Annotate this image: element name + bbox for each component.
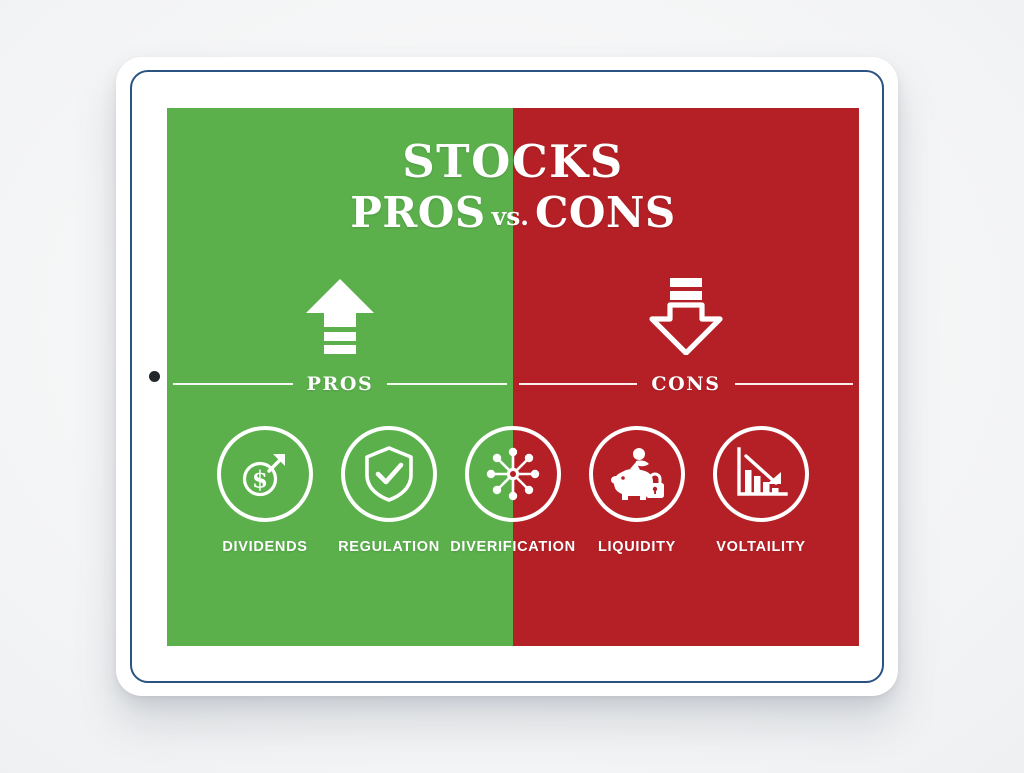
- cons-rule-right: [735, 383, 853, 385]
- liquidity-icon-circle: [589, 426, 685, 522]
- section-labels-row: PROS CONS: [167, 370, 859, 398]
- cons-arrow-cell: [513, 276, 859, 356]
- pros-section-header: PROS: [167, 370, 513, 398]
- camera-dot-icon: [149, 371, 160, 382]
- icon-item-diverification[interactable]: DIVERIFICATION: [451, 426, 575, 555]
- network-hub-icon: [483, 444, 543, 504]
- dividends-icon-circle: $: [217, 426, 313, 522]
- title-cons-word: CONS: [535, 188, 676, 237]
- pros-rule-right: [387, 383, 507, 385]
- caption-regulation: REGULATION: [338, 539, 440, 555]
- icon-item-liquidity[interactable]: LIQUIDITY: [575, 426, 699, 555]
- pros-rule-left: [173, 383, 293, 385]
- infographic-title-block: STOCKS PROSvs.CONS: [167, 138, 859, 235]
- arrow-up-icon: [303, 277, 377, 355]
- tablet-device: STOCKS PROSvs.CONS: [116, 57, 898, 696]
- cons-section-label: CONS: [651, 373, 720, 395]
- icon-item-dividends[interactable]: $ DIVIDENDS: [203, 426, 327, 555]
- icon-item-regulation[interactable]: REGULATION: [327, 426, 451, 555]
- cons-rule-left: [519, 383, 637, 385]
- pros-section-label: PROS: [307, 373, 374, 395]
- icon-item-voltaility[interactable]: VOLTAILITY: [699, 426, 823, 555]
- voltaility-icon-circle: [713, 426, 809, 522]
- caption-voltaility: VOLTAILITY: [716, 539, 805, 555]
- title-main: STOCKS: [167, 138, 859, 186]
- arrow-down-icon: [649, 277, 723, 355]
- title-vs-word: vs.: [486, 202, 535, 231]
- cons-section-header: CONS: [513, 370, 859, 398]
- arrows-row: [167, 276, 859, 356]
- caption-diverification: DIVERIFICATION: [450, 539, 576, 555]
- caption-dividends: DIVIDENDS: [222, 539, 307, 555]
- diverification-icon-circle: [465, 426, 561, 522]
- shield-check-icon: [360, 444, 418, 504]
- piggy-bank-lock-icon: [606, 445, 668, 503]
- caption-liquidity: LIQUIDITY: [598, 539, 676, 555]
- title-pros-word: PROS: [350, 188, 485, 237]
- infographic-content: STOCKS PROSvs.CONS: [167, 108, 859, 646]
- declining-bar-chart-icon: [731, 446, 791, 502]
- title-subtitle: PROSvs.CONS: [167, 191, 859, 236]
- svg-text:$: $: [252, 467, 268, 494]
- pros-arrow-cell: [167, 276, 513, 356]
- regulation-icon-circle: [341, 426, 437, 522]
- icons-row: $ DIVIDENDS REGULATION: [167, 426, 859, 555]
- coin-dollar-arrow-up-icon: $: [235, 444, 295, 504]
